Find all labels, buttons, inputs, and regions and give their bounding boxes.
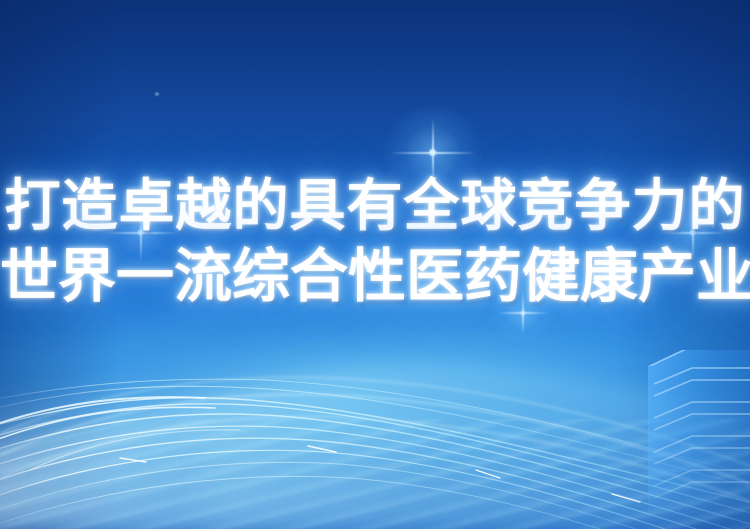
bottom-diagonal-bands — [0, 419, 750, 529]
sparkle-flare-lower — [522, 312, 523, 313]
promo-banner: 打造卓越的具有全球竞争力的 世界一流综合性医药健康产业集团 — [0, 0, 750, 529]
chevron-tower-icon — [620, 344, 750, 529]
sparkle-flare-center — [432, 152, 433, 153]
headline-line-2: 世界一流综合性医药健康产业集团 — [0, 242, 750, 312]
headline-block: 打造卓越的具有全球竞争力的 世界一流综合性医药健康产业集团 — [0, 172, 750, 312]
faint-dot-upper-left — [154, 91, 160, 97]
headline-line-1: 打造卓越的具有全球竞争力的 — [0, 172, 750, 242]
